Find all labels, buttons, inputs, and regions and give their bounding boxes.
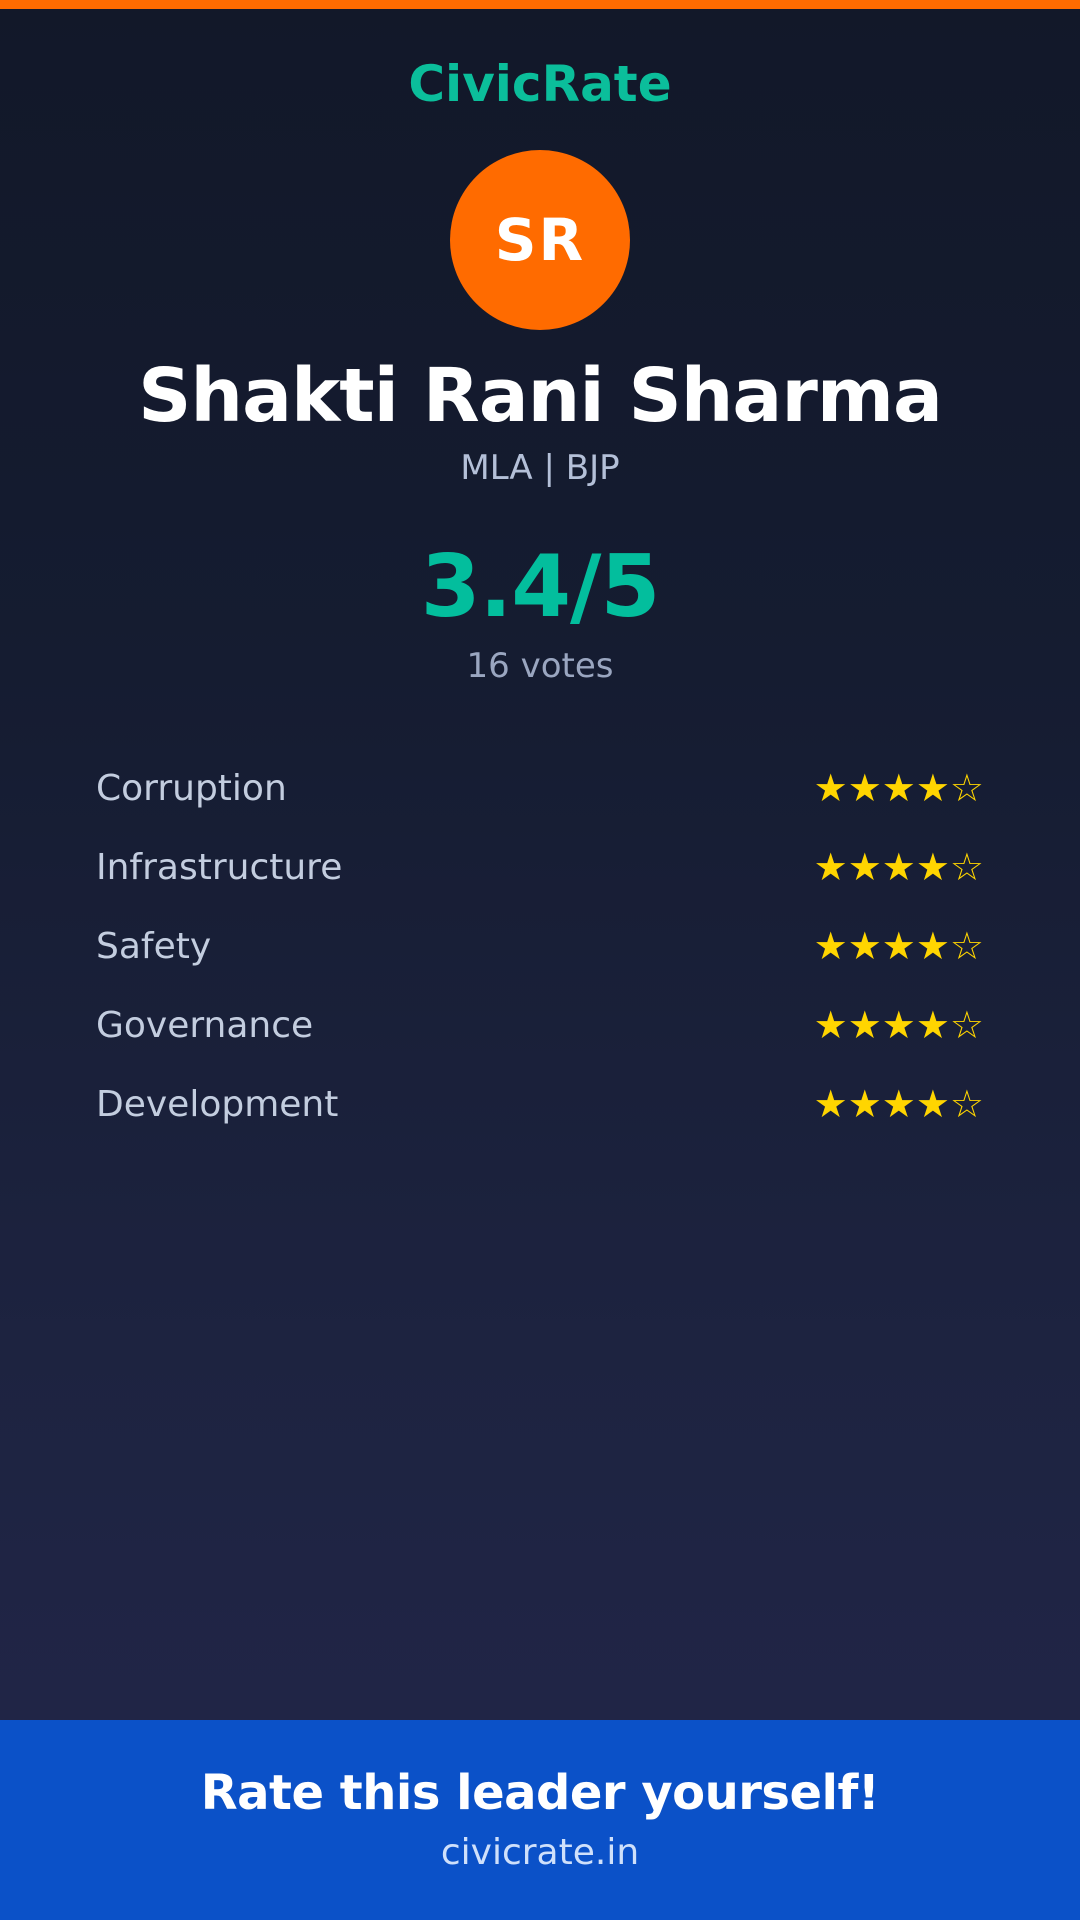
metric-label: Infrastructure [96, 846, 342, 889]
avatar: SR [450, 150, 630, 330]
cta-banner[interactable]: Rate this leader yourself! civicrate.in [0, 1720, 1080, 1920]
leader-meta: MLA | BJP [0, 448, 1080, 489]
content-spacer [0, 1144, 1080, 1720]
metric-label: Development [96, 1083, 338, 1126]
brand-header: CivicRate [0, 9, 1080, 118]
star-rating-icon: ★★★★☆ [814, 766, 984, 812]
star-rating-icon: ★★★★☆ [814, 924, 984, 970]
leader-name: Shakti Rani Sharma [0, 358, 1080, 436]
avatar-initials: SR [495, 211, 585, 269]
metric-row: Infrastructure ★★★★☆ [96, 828, 984, 907]
metric-label: Safety [96, 925, 211, 968]
metric-row: Development ★★★★☆ [96, 1065, 984, 1144]
metric-label: Governance [96, 1004, 313, 1047]
cta-url[interactable]: civicrate.in [441, 1831, 639, 1874]
score-value: 3.4/5 [0, 544, 1080, 630]
metric-row: Safety ★★★★☆ [96, 907, 984, 986]
cta-title: Rate this leader yourself! [201, 1766, 880, 1821]
civicrate-leader-card: CivicRate SR Shakti Rani Sharma MLA | BJ… [0, 0, 1080, 1920]
star-rating-icon: ★★★★☆ [814, 1082, 984, 1128]
metric-row: Governance ★★★★☆ [96, 986, 984, 1065]
leader-profile: SR Shakti Rani Sharma MLA | BJP [0, 118, 1080, 488]
metric-label: Corruption [96, 767, 287, 810]
star-rating-icon: ★★★★☆ [814, 1003, 984, 1049]
metrics-list: Corruption ★★★★☆ Infrastructure ★★★★☆ Sa… [0, 687, 1080, 1144]
overall-score: 3.4/5 16 votes [0, 488, 1080, 687]
top-accent-bar [0, 0, 1080, 9]
brand-title: CivicRate [0, 57, 1080, 112]
metric-row: Corruption ★★★★☆ [96, 749, 984, 828]
star-rating-icon: ★★★★☆ [814, 845, 984, 891]
score-votes: 16 votes [0, 646, 1080, 687]
